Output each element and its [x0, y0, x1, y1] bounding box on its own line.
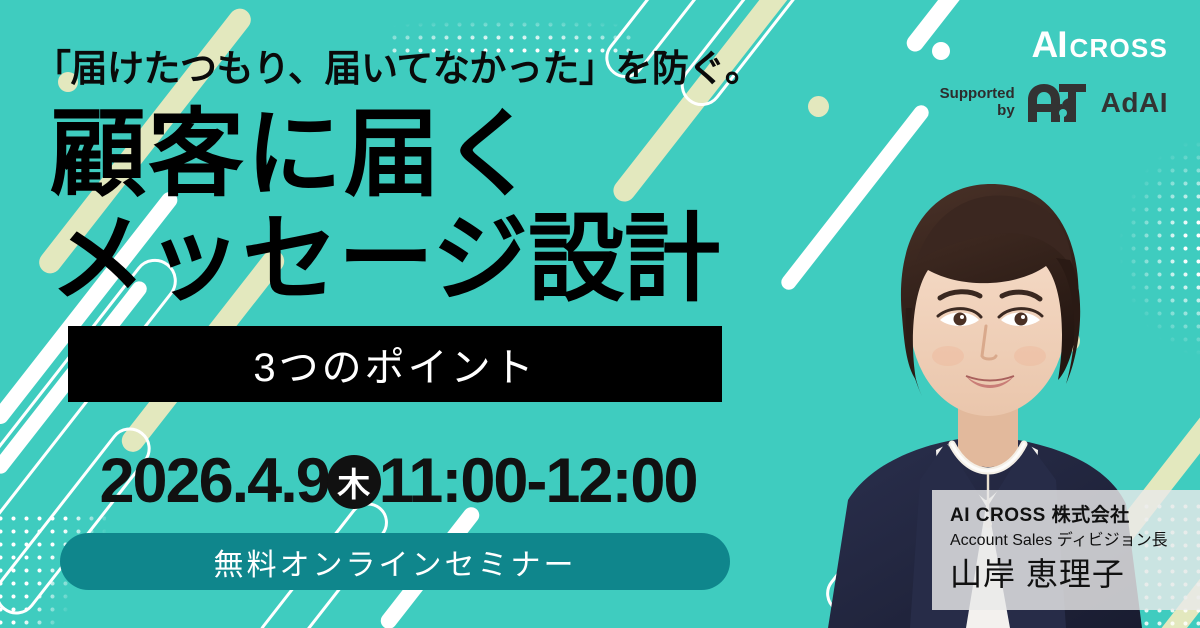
- schedule-time: 11:00-12:00: [379, 450, 697, 513]
- seminar-banner: AI CROSS Supported by AdAI 「届けたつもり、届いてなか…: [0, 0, 1200, 628]
- supported-by-line2: by: [940, 103, 1015, 120]
- aicross-logo: AI CROSS: [1032, 26, 1168, 63]
- speaker-role: Account Sales ディビジョン長: [950, 529, 1186, 552]
- tagline: 「届けたつもり、届いてなかった」を防ぐ。: [34, 38, 761, 92]
- supported-by-label: Supported by: [940, 86, 1015, 120]
- speaker-card: AI CROSS 株式会社 Account Sales ディビジョン長 山岸 恵…: [932, 490, 1200, 610]
- schedule-date: 2026.4.9: [100, 450, 329, 513]
- white-dot: [932, 42, 950, 60]
- supported-by-block: Supported by AdAI: [940, 82, 1168, 124]
- cta-button-label: 無料オンラインセミナー: [214, 540, 577, 584]
- speaker-name: 山岸 恵理子: [950, 554, 1186, 594]
- adai-logomark-icon: [1026, 82, 1090, 124]
- headline: 顧客に届く メッセージ設計: [50, 103, 720, 312]
- white-diagonal-bar: [903, 0, 996, 55]
- aicross-logo-cross: CROSS: [1070, 35, 1168, 63]
- headline-line-1: 顧客に届く: [50, 101, 540, 208]
- points-badge-label: 3つのポイント: [253, 335, 536, 393]
- adai-wordmark: AdAI: [1101, 89, 1168, 117]
- aicross-logo-ai: AI: [1032, 26, 1067, 63]
- cta-button[interactable]: 無料オンラインセミナー: [60, 533, 730, 590]
- speaker-company: AI CROSS 株式会社: [950, 504, 1186, 529]
- headline-line-2: メッセージ設計: [50, 208, 720, 313]
- points-badge: 3つのポイント: [68, 326, 722, 402]
- schedule-weekday-badge: 木: [327, 455, 381, 509]
- supported-by-line1: Supported: [940, 85, 1015, 102]
- schedule-line: 2026.4.9 木 11:00-12:00: [74, 450, 722, 513]
